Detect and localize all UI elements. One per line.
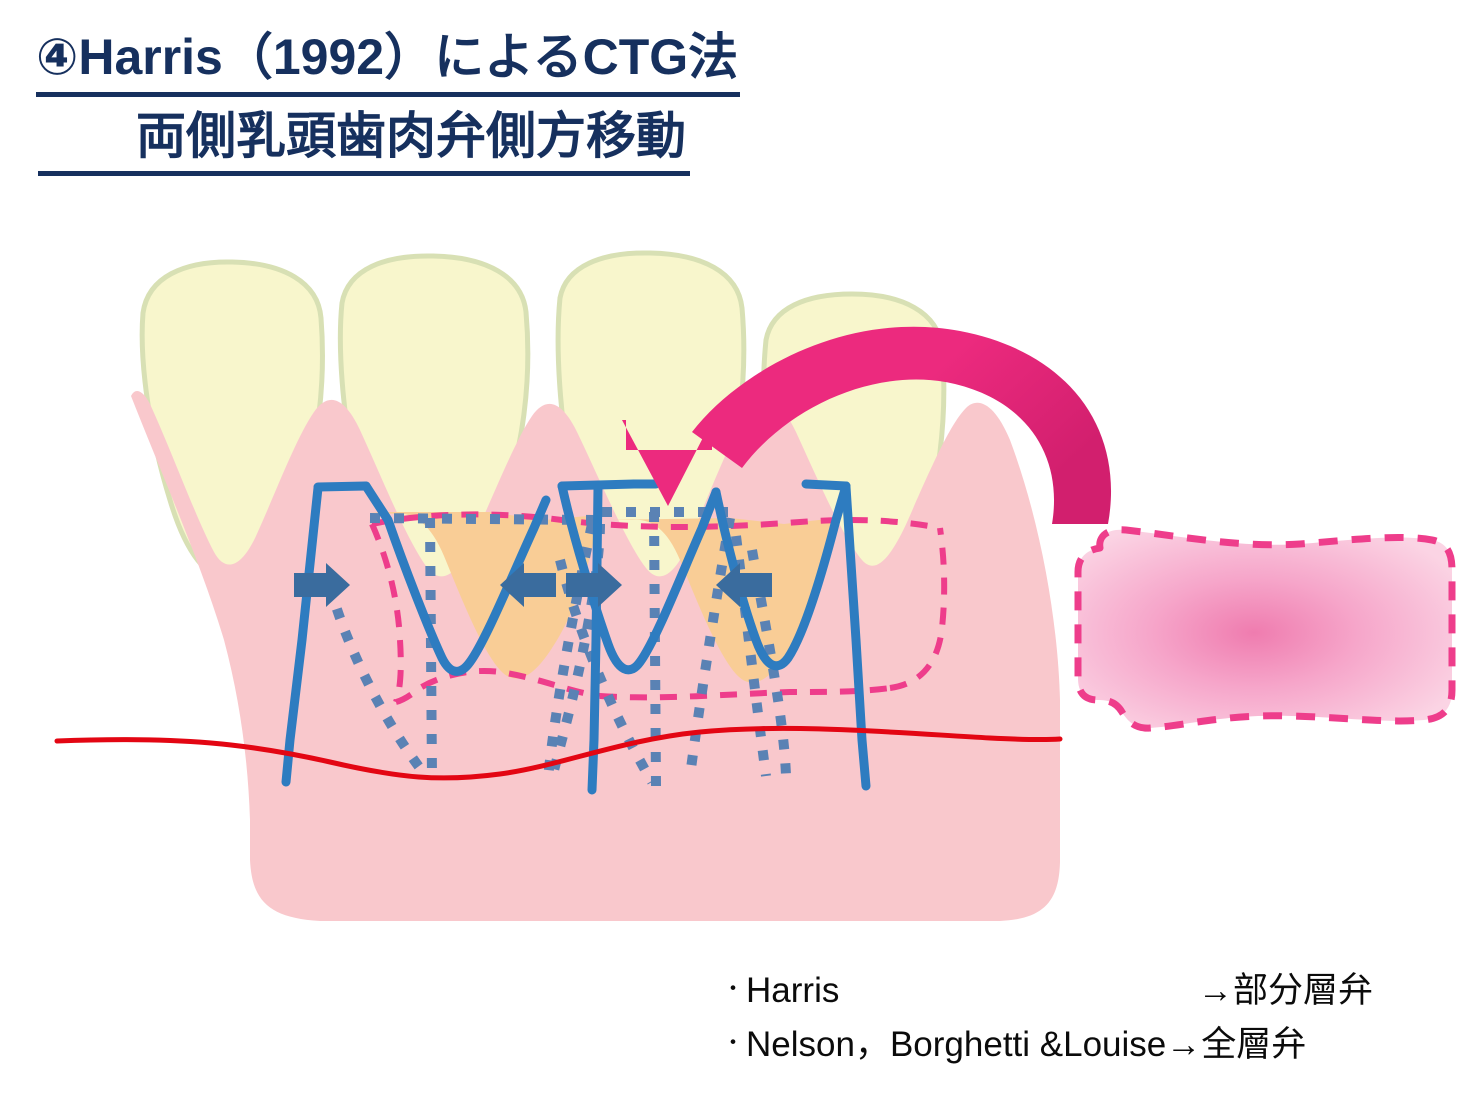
caption-row-nelson: ・ Nelson，Borghetti &Louise →全層弁 — [722, 1020, 1422, 1074]
flap-left-top — [318, 486, 366, 487]
caption-result-harris: →部分層弁 — [1198, 966, 1373, 1016]
slide-title: ④Harris（1992）によるCTG法 両側乳頭歯肉弁側方移動 — [0, 24, 1000, 176]
flap-right-top — [806, 484, 846, 486]
title-line-1: ④Harris（1992）によるCTG法 — [36, 24, 740, 97]
title-line-1-wrap: ④Harris（1992）によるCTG法 — [0, 24, 1000, 97]
caption-bullet-1: ・ — [722, 964, 744, 1014]
caption-result-nelson: →全層弁 — [1166, 1020, 1306, 1070]
caption-name-nelson: Nelson，Borghetti &Louise — [746, 1020, 1166, 1070]
connective-tissue-graft — [1078, 530, 1452, 728]
caption-bullet-2: ・ — [722, 1018, 744, 1068]
caption-name-harris: Harris — [746, 966, 1198, 1016]
caption-block: ・ Harris →部分層弁 ・ Nelson，Borghetti &Louis… — [722, 966, 1422, 1074]
title-line-2-wrap: 両側乳頭歯肉弁側方移動 — [0, 97, 1000, 176]
title-line-2: 両側乳頭歯肉弁側方移動 — [38, 103, 690, 176]
caption-row-harris: ・ Harris →部分層弁 — [722, 966, 1422, 1020]
slide-root: ④Harris（1992）によるCTG法 両側乳頭歯肉弁側方移動 ・ Harri… — [0, 0, 1463, 1105]
